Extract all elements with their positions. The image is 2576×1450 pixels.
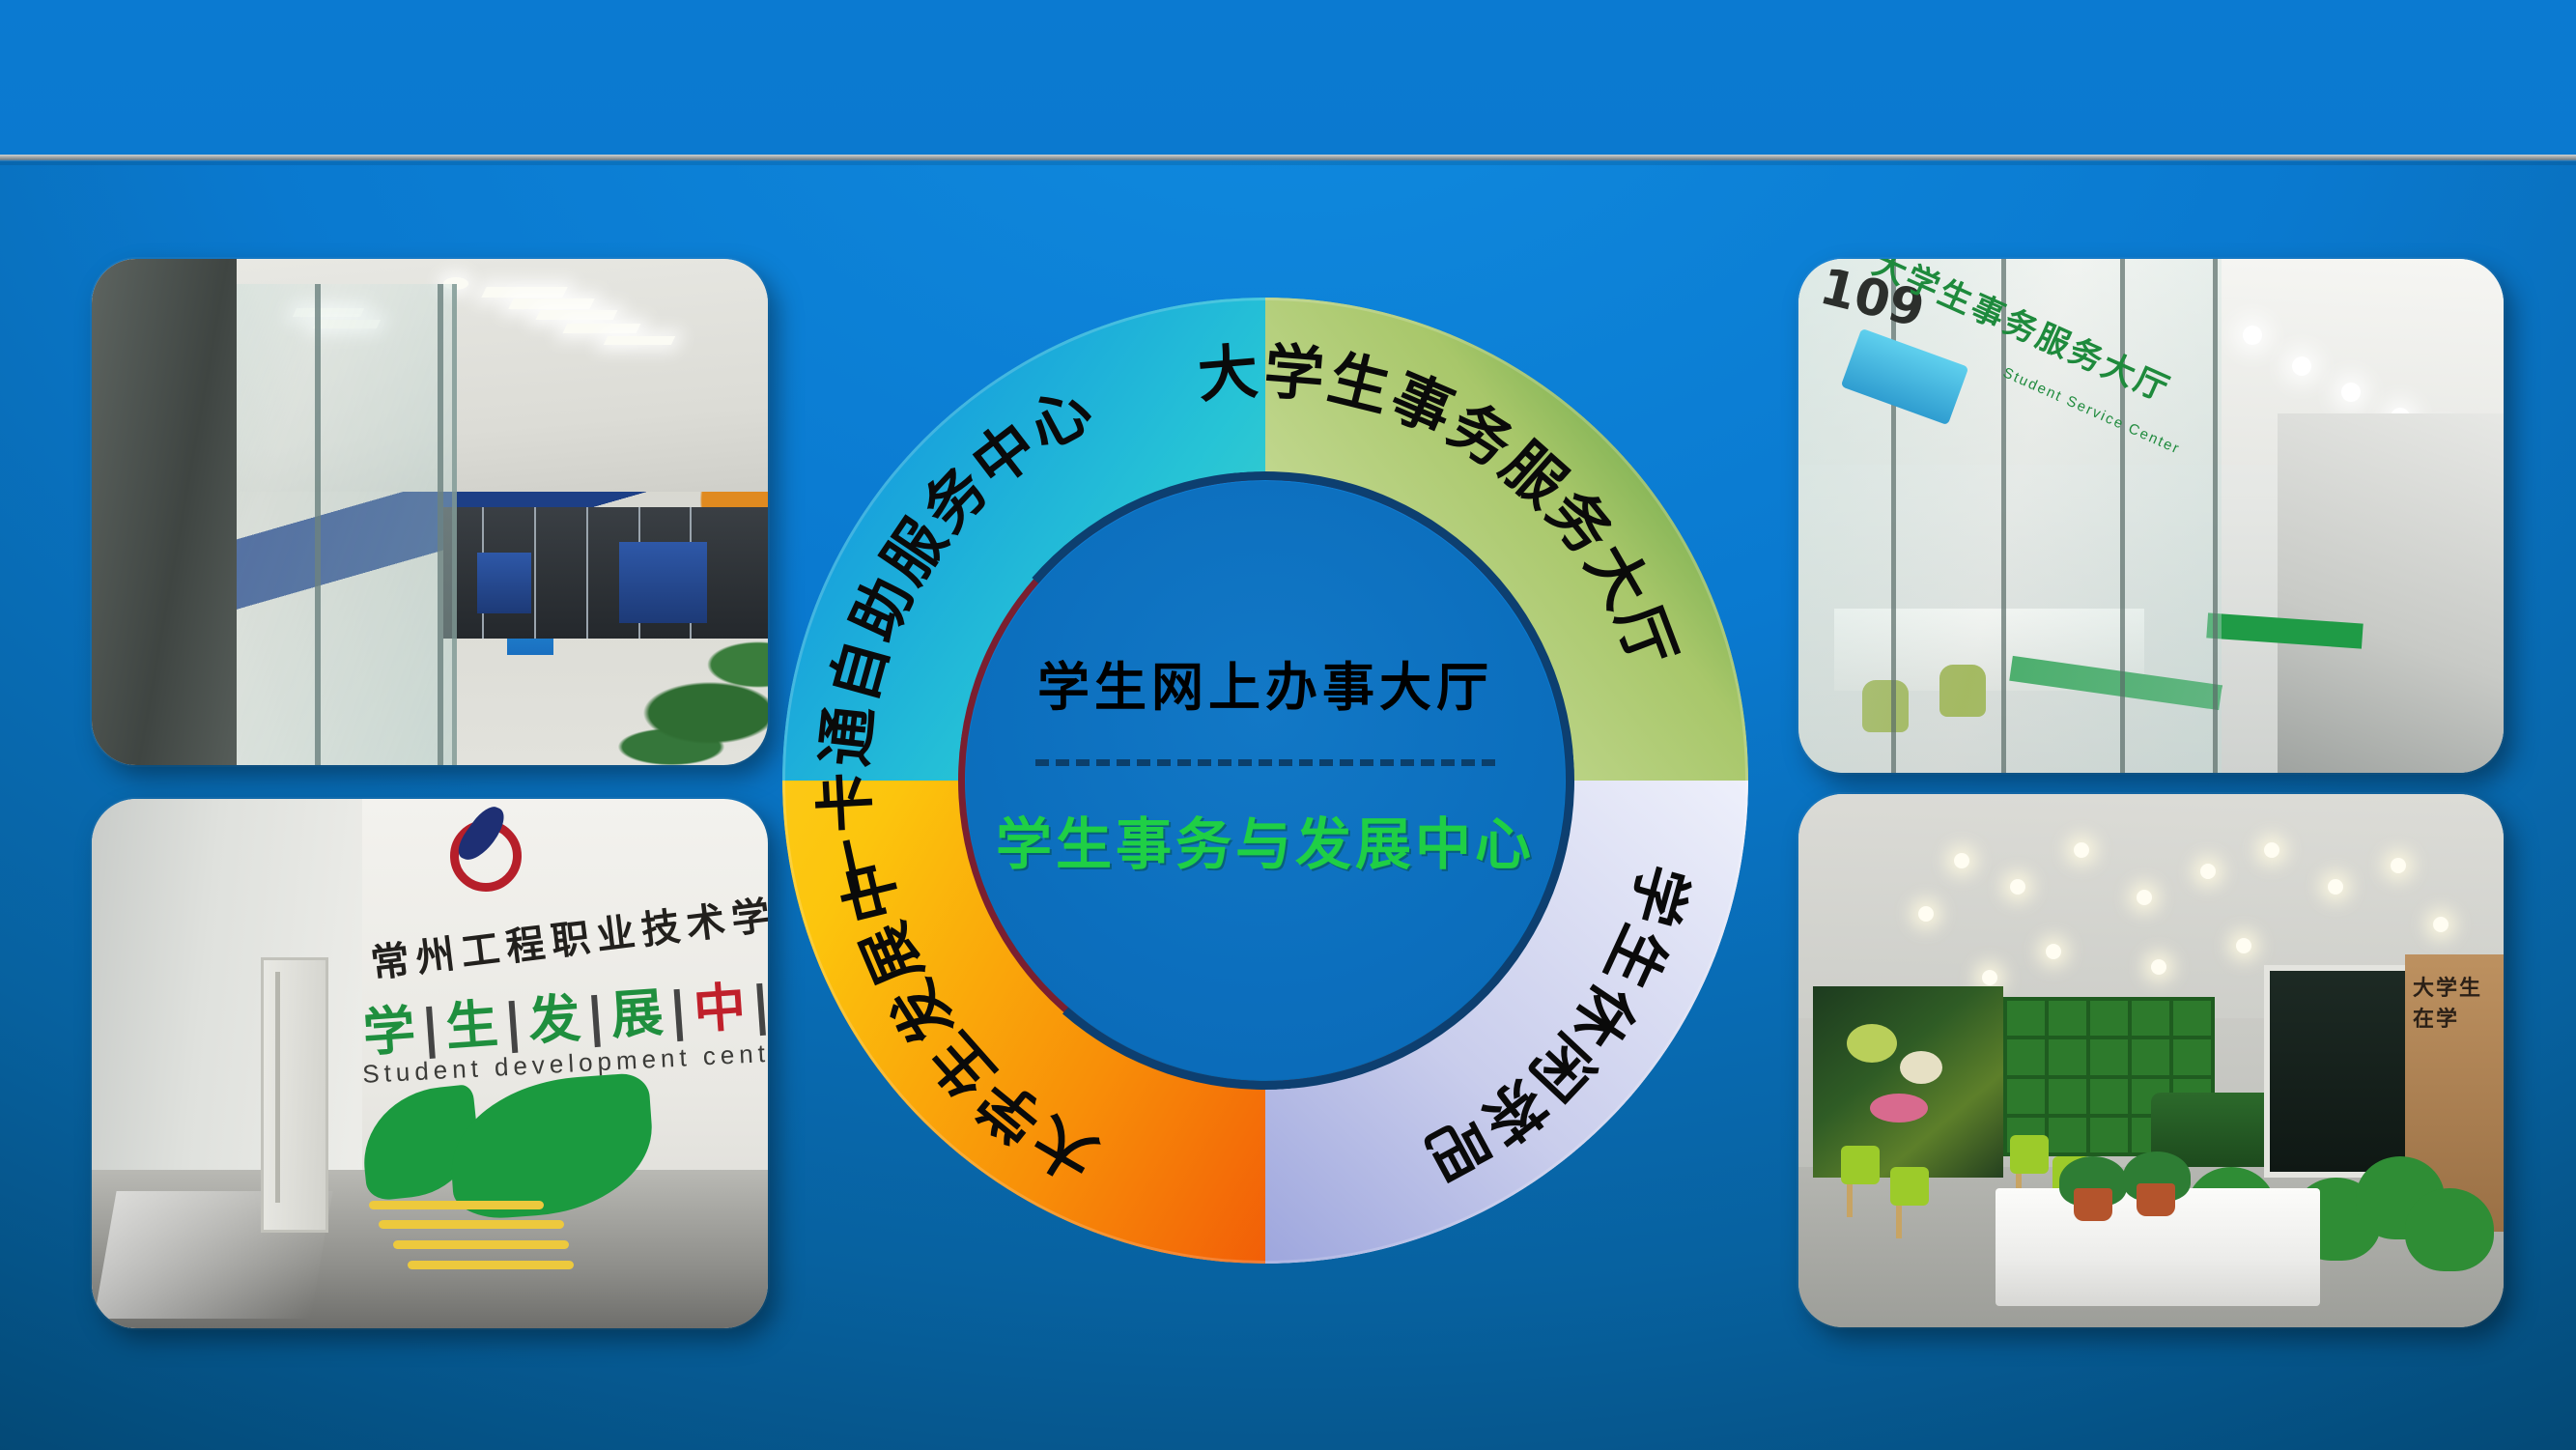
hub-subtitle: 学生事务与发展中心 bbox=[996, 799, 1535, 880]
photo-one-card-self-service-image bbox=[92, 259, 768, 765]
photo-student-development-center[interactable]: 常州工程职业技术学院 学|生|发|展|中|心 Student developme… bbox=[92, 799, 768, 1328]
photo-student-leisure-tea-bar[interactable]: 大学生在学 bbox=[1798, 794, 2504, 1327]
door-frame bbox=[92, 259, 237, 765]
service-podium-2 bbox=[477, 553, 531, 613]
window bbox=[2264, 965, 2420, 1179]
hub-title: 学生网上办事大厅 bbox=[1037, 644, 1493, 721]
yellow-bars-graphic bbox=[369, 1201, 612, 1286]
quadrant-donut-diagram: 一卡通自助服务中心 大学生事务服务大厅 学生休闲茶吧 大学生发展中心 学生网上办… bbox=[782, 298, 1748, 1264]
photo-student-leisure-tea-bar-image: 大学生在学 bbox=[1798, 794, 2504, 1327]
slide-canvas: 常州工程职业技术学院 学|生|发|展|中|心 Student developme… bbox=[0, 0, 2576, 1450]
header-band bbox=[0, 0, 2576, 156]
photo-student-development-center-image: 常州工程职业技术学院 学|生|发|展|中|心 Student developme… bbox=[92, 799, 768, 1328]
photo-one-card-self-service[interactable] bbox=[92, 259, 768, 765]
donut-hub: 学生网上办事大厅 学生事务与发展中心 bbox=[966, 481, 1565, 1080]
photo-student-affairs-service-hall-image: 109 大学生事务服务大厅 Student Service Center bbox=[1798, 259, 2504, 773]
header-divider-shadow bbox=[0, 161, 2576, 165]
corridor-door bbox=[261, 957, 328, 1233]
header-divider-rule bbox=[0, 155, 2576, 161]
service-podium bbox=[619, 542, 707, 623]
corridor bbox=[2278, 413, 2504, 773]
photo-student-affairs-service-hall[interactable]: 109 大学生事务服务大厅 Student Service Center bbox=[1798, 259, 2504, 773]
wood-wall-text: 大学生在学 bbox=[2413, 971, 2504, 1033]
hub-divider bbox=[1035, 759, 1495, 766]
